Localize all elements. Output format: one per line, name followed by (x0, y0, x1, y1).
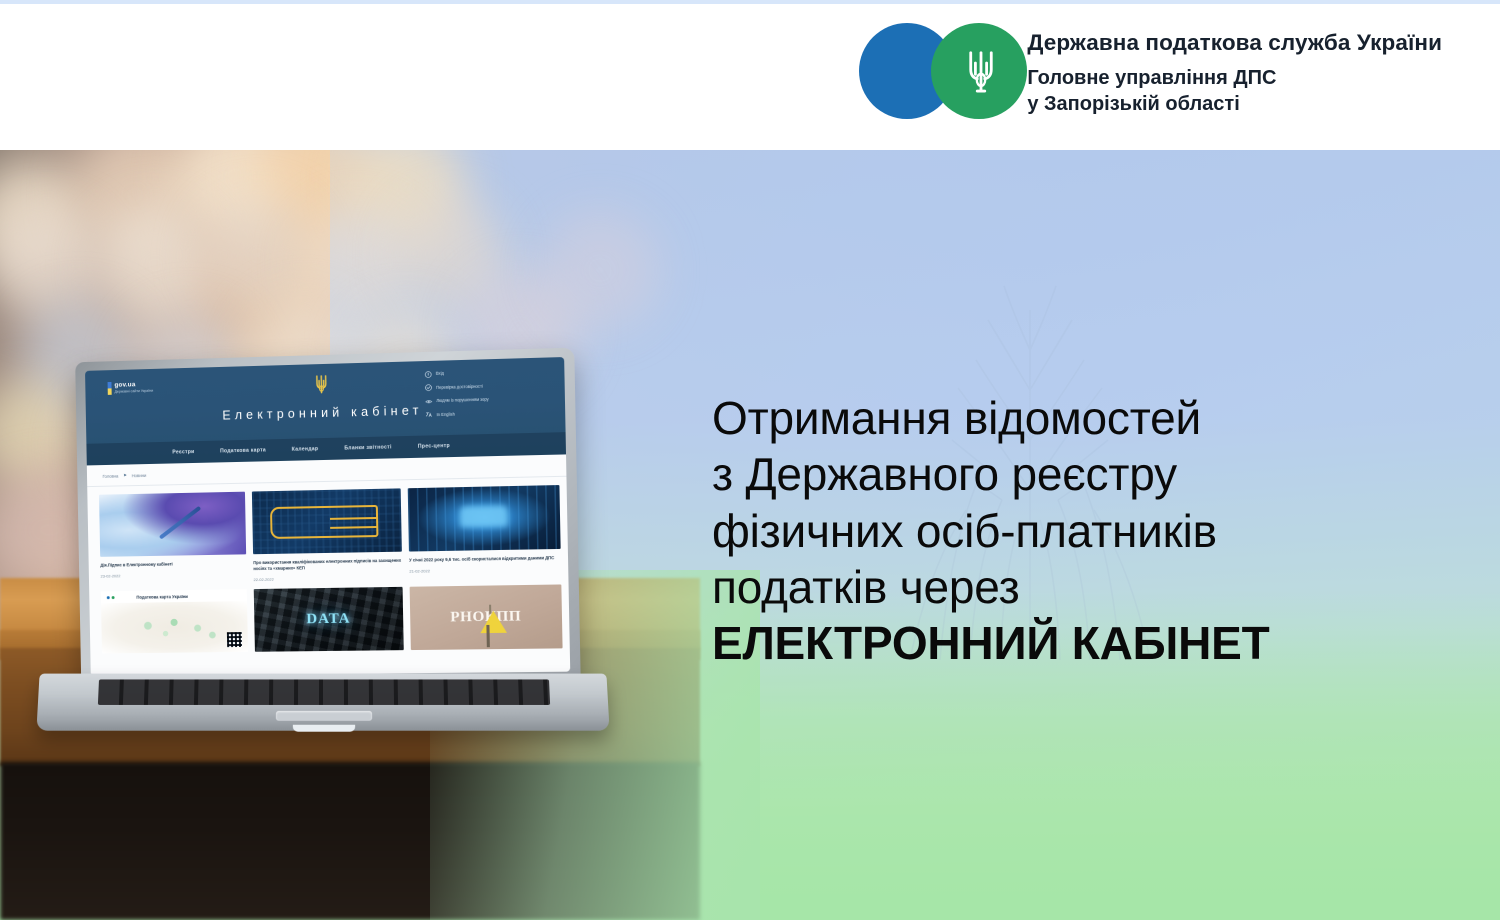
sign-post-icon (486, 625, 489, 647)
verify-badge-icon (425, 384, 432, 391)
gov-badge-subtitle: Державні сайти України (115, 389, 154, 394)
news-card[interactable]: У січні 2022 року 9,6 тис. осіб скориста… (408, 485, 561, 580)
news-title: Про використання кваліфікованих електрон… (253, 558, 402, 573)
language-translate-icon (425, 411, 432, 418)
headline-line-1: Отримання відомостей (712, 390, 1472, 446)
ukraine-flag-icon (108, 382, 112, 395)
electronic-cabinet-website: gov.ua Державні сайти України (85, 357, 570, 676)
organization-name-block: Державна податкова служба України Головн… (1027, 28, 1442, 118)
laptop-base (36, 674, 609, 731)
laptop-screen: gov.ua Державні сайти України (85, 357, 570, 676)
headline-line-2: з Державного реєстру (712, 446, 1472, 502)
utility-link-login[interactable]: Вхід (425, 368, 547, 378)
utility-link-verify-label: Перевірка достовірності (436, 383, 483, 390)
news-title: Дія.Підпис в Електронному кабінеті (100, 560, 246, 568)
gov-ua-badge[interactable]: gov.ua Державні сайти України (108, 381, 154, 395)
banner-tax-map: Податкова карта України (101, 589, 248, 653)
laptop-trackpad (276, 711, 372, 721)
utility-link-accessibility[interactable]: Людям із порушенням зору (425, 395, 547, 405)
breadcrumb-separator-icon: ➤ (123, 472, 127, 478)
laptop-front-notch (293, 725, 355, 732)
utility-link-login-label: Вхід (436, 371, 444, 377)
page-header: Державна податкова служба України Головн… (0, 4, 1500, 150)
nav-item-tax-map[interactable]: Податкова карта (220, 447, 266, 454)
news-title: У січні 2022 року 9,6 тис. осіб скориста… (409, 555, 561, 564)
news-date: 23-02-2022 (101, 571, 247, 578)
news-date: 22-02-2022 (254, 575, 403, 582)
eye-accessibility-icon (425, 398, 432, 405)
banner-card[interactable]: Податкова карта України (101, 589, 248, 653)
organization-branding: Державна податкова служба України Головн… (859, 23, 1442, 123)
banner-title: DATA (306, 611, 351, 629)
site-body: Головна ➤ Новини Дія.Підпис в Електронно… (87, 454, 570, 676)
nav-item-report-forms[interactable]: Бланки звітності (344, 444, 391, 451)
headline-line-3: фізичних осіб-платників (712, 503, 1472, 559)
utility-link-verify[interactable]: Перевірка достовірності (425, 381, 547, 391)
utility-link-accessibility-label: Людям із порушенням зору (436, 397, 488, 404)
qr-code-icon (227, 632, 242, 647)
site-trident-icon (313, 373, 330, 396)
banner-card[interactable]: РНОКПП (410, 585, 563, 651)
page-title: Отримання відомостей з Державного реєстр… (712, 390, 1472, 672)
trident-emblem-icon (967, 45, 995, 97)
site-utility-links: Вхід Перевірка достовірності (425, 368, 548, 426)
site-header: gov.ua Державні сайти України (85, 357, 566, 465)
ukraine-map-graphic (101, 601, 248, 653)
breadcrumb-home[interactable]: Головна (102, 473, 118, 478)
warning-triangle-icon (480, 611, 507, 634)
org-title-line-1: Державна податкова служба України (1027, 28, 1442, 58)
nav-item-registries[interactable]: Реєстри (172, 449, 194, 455)
banner-title: Податкова карта України (136, 594, 188, 600)
org-title-line-2: Головне управління ДПС (1027, 65, 1442, 92)
laptop-device: gov.ua Державні сайти України (38, 355, 608, 725)
login-key-icon (425, 370, 432, 377)
laptop-keyboard (98, 679, 550, 705)
news-thumbnail-digital-cloud (408, 485, 561, 552)
headline-line-4: податків через (712, 559, 1472, 615)
slide-root: Державна податкова служба України Головн… (0, 0, 1500, 920)
org-title-line-3: у Запорізькій області (1027, 91, 1442, 118)
hero-stage: gov.ua Державні сайти України (0, 150, 1500, 920)
news-card[interactable]: Дія.Підпис в Електронному кабінеті 23-02… (99, 492, 247, 585)
utility-link-english[interactable]: In English (425, 409, 547, 419)
key-shape-icon (270, 505, 379, 539)
nav-item-calendar[interactable]: Календар (292, 446, 319, 453)
map-legend-dots-icon (107, 596, 115, 599)
banner-rnokpp: РНОКПП (410, 585, 563, 651)
banner-card[interactable]: DATA (254, 587, 404, 652)
breadcrumb-current: Новини (132, 472, 147, 477)
nav-item-press-center[interactable]: Прес-центр (418, 443, 450, 450)
dps-logo (859, 23, 1009, 123)
news-date: 21-02-2022 (409, 566, 561, 573)
utility-link-english-label: In English (437, 411, 455, 417)
banner-open-data: DATA (254, 587, 404, 652)
news-thumbnail-esignature (99, 492, 246, 557)
headline-emphasis: ЕЛЕКТРОННИЙ КАБІНЕТ (712, 615, 1472, 671)
news-thumbnail-circuit-key (252, 488, 402, 554)
laptop-lid: gov.ua Державні сайти України (75, 348, 581, 688)
news-grid: Дія.Підпис в Електронному кабінеті 23-02… (87, 477, 570, 654)
news-card[interactable]: Про використання кваліфікованих електрон… (252, 488, 403, 582)
